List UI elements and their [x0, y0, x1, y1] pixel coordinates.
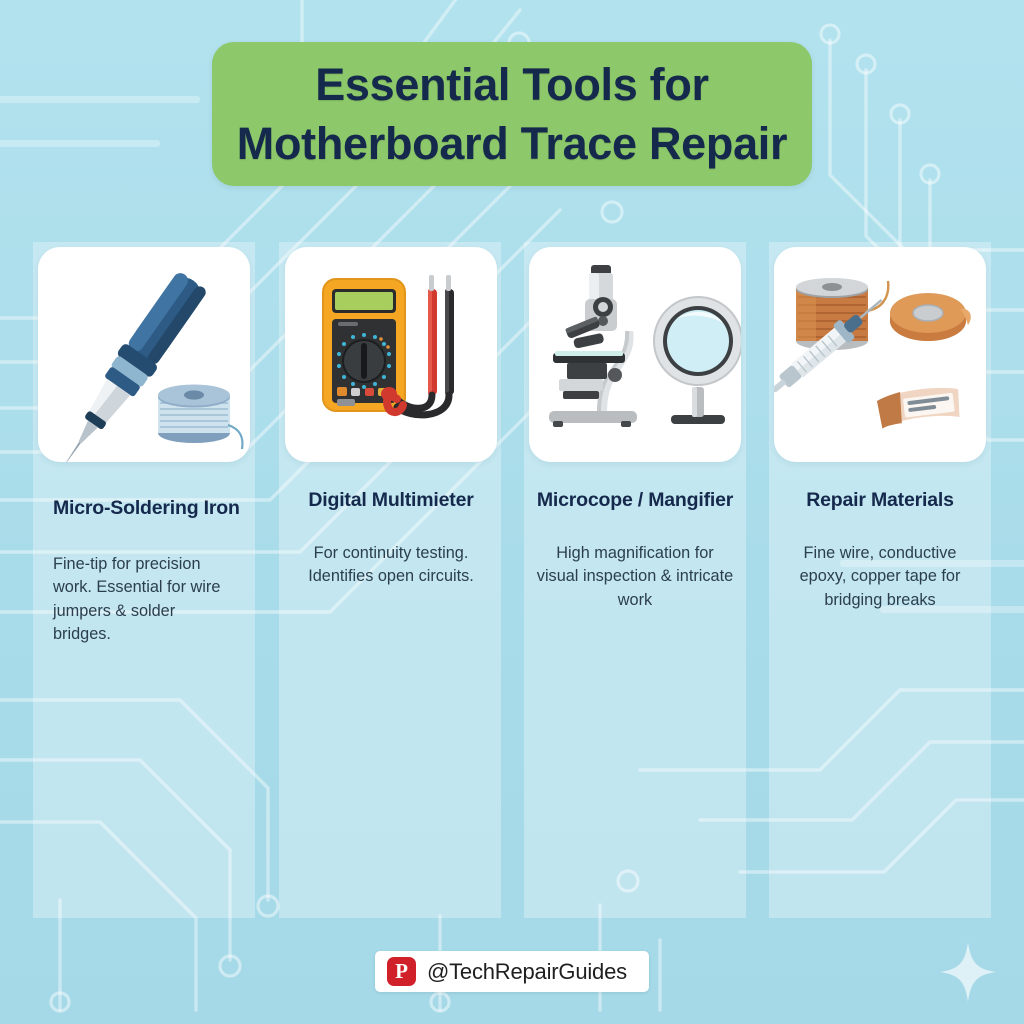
- card-title-2: Digital Multimieter: [285, 489, 497, 512]
- footer-badge[interactable]: P @TechRepairGuides: [375, 951, 649, 992]
- pinterest-icon[interactable]: P: [387, 957, 416, 986]
- title-line-1: Essential Tools for: [315, 59, 709, 110]
- card-body-3: High magnification for visual inspection…: [535, 542, 735, 612]
- card-title-4: Repair Materials: [774, 489, 986, 512]
- card-title-1: Micro-Soldering Iron: [53, 497, 240, 520]
- soldering-iron-icon: [38, 247, 250, 462]
- social-handle: @TechRepairGuides: [427, 959, 627, 985]
- title-banner: Essential Tools for Motherboard Trace Re…: [212, 42, 812, 186]
- card-body-1: Fine-tip for precision work. Essential f…: [53, 553, 233, 646]
- card-body-4: Fine wire, conductive epoxy, copper tape…: [780, 542, 980, 612]
- card-title-3: Microcope / Mangifier: [529, 489, 741, 512]
- infographic-canvas: Essential Tools for Motherboard Trace Re…: [0, 0, 1024, 1024]
- tool-card-2[interactable]: [285, 247, 497, 462]
- microscope-magnifier-icon: [529, 247, 741, 462]
- title-line-2: Motherboard Trace Repair: [237, 118, 787, 169]
- card-body-2: For continuity testing. Identifies open …: [291, 542, 491, 589]
- repair-materials-icon: [774, 247, 986, 462]
- tool-card-4[interactable]: [774, 247, 986, 462]
- pinterest-glyph: P: [395, 961, 408, 982]
- digital-multimeter-icon: [285, 247, 497, 462]
- tool-card-1[interactable]: [38, 247, 250, 462]
- tool-card-3[interactable]: [529, 247, 741, 462]
- sparkle-icon: [938, 940, 998, 1004]
- page-title: Essential Tools for Motherboard Trace Re…: [237, 55, 787, 174]
